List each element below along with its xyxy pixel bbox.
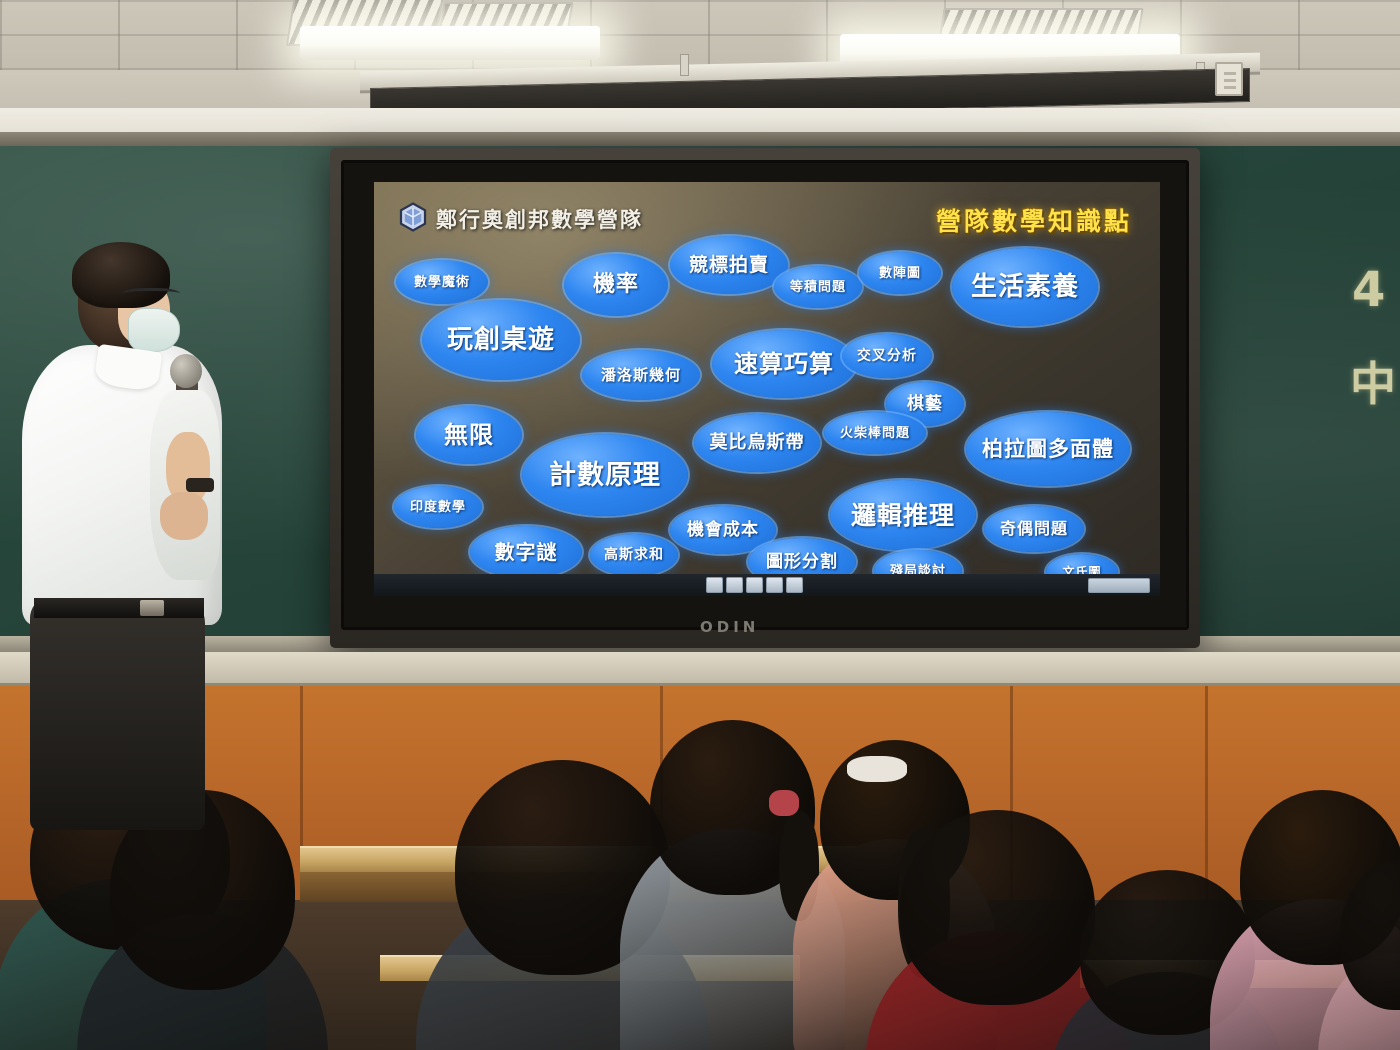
presenter-glasses: [122, 288, 180, 302]
slide-brand-title: 鄭行奧創邦數學營隊: [436, 204, 643, 234]
knowledge-bubble[interactable]: 高斯求和: [590, 534, 678, 576]
knowledge-bubble[interactable]: 玩創桌遊: [422, 300, 580, 380]
knowledge-bubble[interactable]: 數字謎: [470, 526, 582, 578]
knowledge-bubble[interactable]: 邏輯推理: [830, 480, 976, 550]
wall-outlet[interactable]: [1215, 62, 1243, 96]
knowledge-bubble[interactable]: 生活素養: [952, 248, 1098, 326]
knowledge-bubble[interactable]: 印度數學: [394, 486, 482, 528]
presenter-belt: [34, 598, 204, 618]
chalk-writing-1: 中: [1350, 348, 1396, 414]
slide-screen[interactable]: 鄭行奧創邦數學營隊 營隊數學知識點 數學魔術機率競標拍賣等積問題數陣圖生活素養玩…: [374, 182, 1160, 596]
taskbar-tray[interactable]: [1088, 578, 1150, 593]
audience-girl-pigtail: [650, 720, 815, 1050]
os-taskbar[interactable]: [374, 574, 1160, 596]
knowledge-bubble[interactable]: 數學魔術: [396, 260, 488, 304]
taskbar-icon-group[interactable]: [706, 577, 803, 593]
hexagon-cube-logo-icon: [398, 202, 428, 232]
knowledge-bubble[interactable]: 等積問題: [774, 266, 862, 308]
knowledge-bubble[interactable]: 交叉分析: [842, 334, 932, 378]
presenter-trousers: [30, 600, 205, 830]
hair-bow: [847, 756, 907, 782]
knowledge-bubble[interactable]: 機率: [564, 254, 668, 316]
ceiling: [0, 0, 1400, 150]
knowledge-bubble[interactable]: 莫比烏斯帶: [694, 414, 820, 472]
classroom-photo-scene: 4 中 鄭行奧創邦數學營隊 營隊數學知識點 數學魔術機率競標拍賣等積問題數陣圖生…: [0, 0, 1400, 1050]
slide-title: 營隊數學知識點: [936, 202, 1132, 238]
wall-ledge: [0, 652, 1400, 686]
knowledge-bubble[interactable]: 潘洛斯幾何: [582, 350, 700, 400]
microphone-head: [170, 354, 202, 388]
audience-edge-right: [1340, 860, 1400, 1050]
chalk-writing-0: 4: [1352, 262, 1385, 318]
hair-scrunchie: [769, 790, 799, 816]
knowledge-bubble[interactable]: 計數原理: [522, 434, 688, 516]
settings-icon[interactable]: [786, 577, 803, 593]
file-icon[interactable]: [706, 577, 723, 593]
chalkboard-top-frame: [0, 132, 1400, 146]
media-icon[interactable]: [766, 577, 783, 593]
browser-icon[interactable]: [746, 577, 763, 593]
slide-header: 鄭行奧創邦數學營隊 營隊數學知識點: [374, 188, 1160, 240]
audience-head: [900, 810, 1095, 1005]
presenter-belt-buckle: [140, 600, 164, 616]
display-brand-label: ODIN: [700, 618, 759, 636]
folder-icon[interactable]: [726, 577, 743, 593]
knowledge-bubble[interactable]: 柏拉圖多面體: [966, 412, 1130, 486]
presenter-wristwatch: [186, 478, 214, 492]
ceiling-light-left: [300, 26, 600, 60]
knowledge-bubble[interactable]: 奇偶問題: [984, 506, 1084, 552]
presenter-hand-lower: [160, 492, 208, 540]
knowledge-bubble[interactable]: 數陣圖: [859, 252, 941, 294]
presenter-face-mask: [128, 308, 180, 352]
knowledge-bubble[interactable]: 競標拍賣: [670, 236, 788, 294]
knowledge-bubble[interactable]: 火柴棒問題: [824, 412, 926, 454]
screen-bracket-left: [680, 54, 689, 76]
knowledge-bubble[interactable]: 速算巧算: [712, 330, 856, 398]
knowledge-bubble[interactable]: 無限: [416, 406, 522, 464]
audience-boy-red: [900, 810, 1095, 1050]
